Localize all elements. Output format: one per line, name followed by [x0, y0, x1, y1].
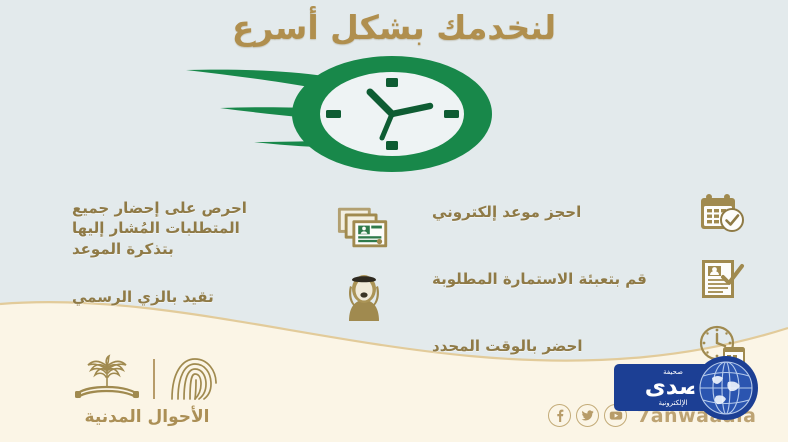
gov-logo: الأحوال المدنية [52, 352, 242, 430]
sada-watermark: صحيفة صدى الإلكترونية [614, 352, 784, 424]
gov-logo-name: الأحوال المدنية [52, 407, 242, 427]
watermark-bottom-text: الإلكترونية [658, 400, 687, 407]
step-line: احرص على إحضار جميع [72, 199, 247, 217]
saudi-emblem-icon [70, 353, 144, 405]
person-thobe-icon [336, 273, 392, 323]
step-row: احرص على إحضار جميع المتطلبات المُشار إل… [62, 198, 392, 259]
step-line: بتذكرة الموعد [72, 240, 174, 258]
steps-left-column: احرص على إحضار جميع المتطلبات المُشار إل… [62, 198, 392, 337]
globe-icon [692, 354, 760, 422]
step-row: احجز موعد إلكتروني [420, 188, 750, 238]
step-row: قم بتعبئة الاستمارة المطلوبة [420, 255, 750, 305]
fingerprint-icon [164, 353, 224, 405]
step-label: احرص على إحضار جميع المتطلبات المُشار إل… [62, 198, 336, 259]
calendar-check-icon [694, 188, 750, 238]
twitter-icon[interactable] [576, 404, 599, 427]
step-line: المتطلبات المُشار إليها [72, 219, 240, 237]
step-label: احجز موعد إلكتروني [420, 203, 694, 223]
id-cards-stack-icon [336, 203, 392, 253]
infographic-poster: لنخدمك بشكل أسرع [0, 0, 788, 442]
step-label: تقيد بالزي الرسمي [62, 288, 336, 308]
logo-divider [153, 359, 154, 399]
fast-clock-icon [184, 52, 504, 177]
page-title: لنخدمك بشكل أسرع [0, 8, 788, 47]
step-label: قم بتعبئة الاستمارة المطلوبة [420, 270, 694, 290]
form-document-check-icon [694, 255, 750, 305]
facebook-icon[interactable] [548, 404, 571, 427]
step-row: تقيد بالزي الرسمي [62, 273, 392, 323]
